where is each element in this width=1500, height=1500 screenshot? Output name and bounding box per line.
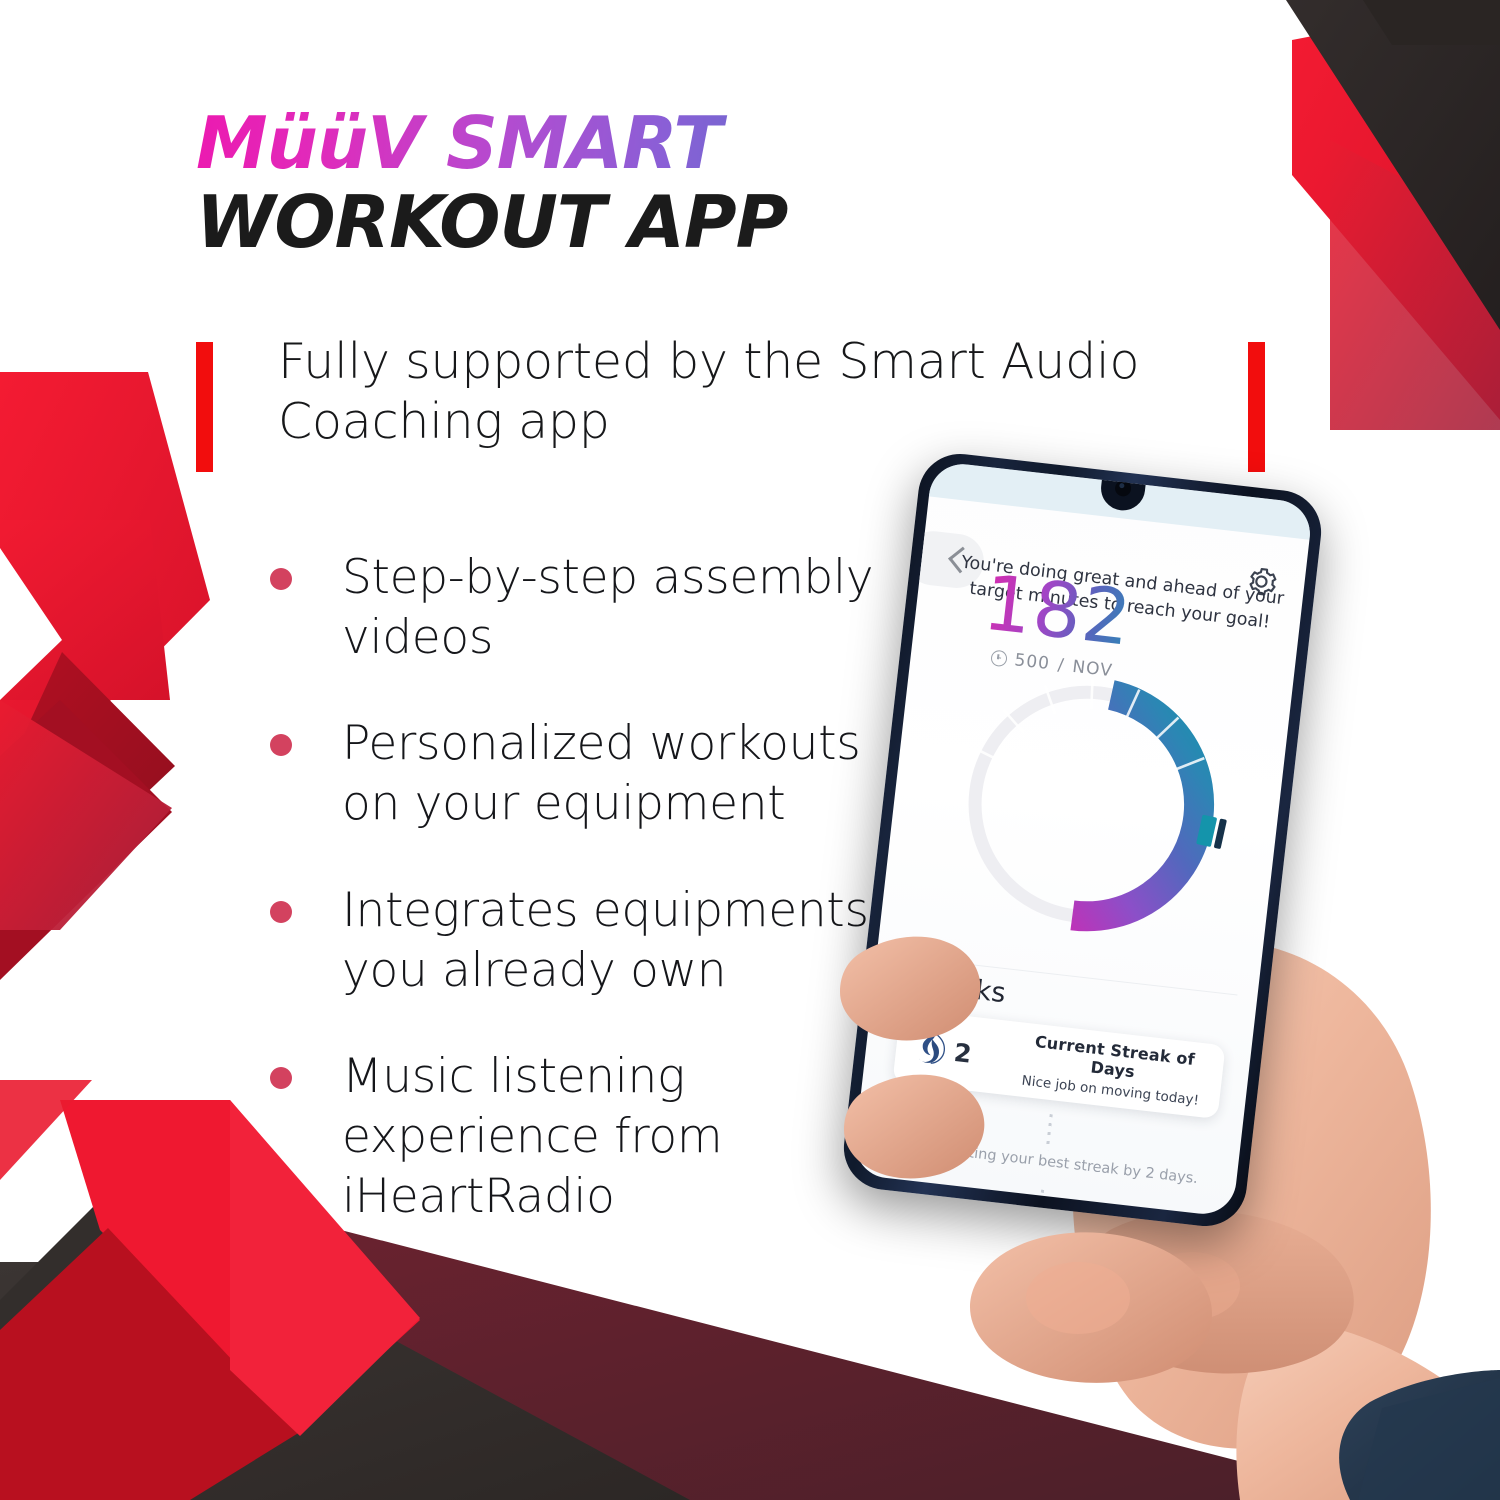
streak-card-texts: Current Streak of Days Nice job on movin… (1015, 1030, 1225, 1111)
bullet-dot-icon (270, 734, 292, 756)
thumb-nail (1144, 1252, 1240, 1320)
phone-in-hand: You're doing great and ahead of your tar… (810, 440, 1500, 1500)
gauge-value: 182 (980, 565, 1136, 657)
smartphone: You're doing great and ahead of your tar… (839, 449, 1325, 1230)
headline: MüüV SMART WORKOUT APP (196, 108, 1096, 257)
streak-count-group: 2 (916, 1030, 1019, 1077)
page-title-primary: MüüV SMART (196, 108, 1096, 179)
flame-icon (916, 1030, 950, 1069)
dotted-connector-upper (1045, 1114, 1052, 1150)
promo-graphic: MüüV SMART WORKOUT APP Fully supported b… (0, 0, 1500, 1500)
phone-screen: You're doing great and ahead of your tar… (852, 461, 1314, 1218)
gauge-separator: / (1057, 655, 1066, 676)
streak-card[interactable]: 2 Current Streak of Days Nice job on mov… (892, 1009, 1225, 1120)
accent-bar-left (196, 342, 213, 472)
bullet-dot-icon (270, 901, 292, 923)
bullet-dot-icon (270, 568, 292, 590)
subtitle-text: Fully supported by the Smart Audio Coach… (278, 332, 1208, 452)
bullet-dot-icon (270, 1067, 292, 1089)
page-title-secondary: WORKOUT APP (196, 187, 1096, 258)
streak-count: 2 (953, 1037, 974, 1068)
streaks-section-title: Streaks (902, 967, 1007, 1009)
gauge-month: NOV (1071, 657, 1113, 681)
gauge-goal: 500 (1013, 650, 1050, 674)
clock-icon (990, 649, 1008, 667)
gauge-center-readout: 182 500 / NOV (899, 461, 1227, 789)
